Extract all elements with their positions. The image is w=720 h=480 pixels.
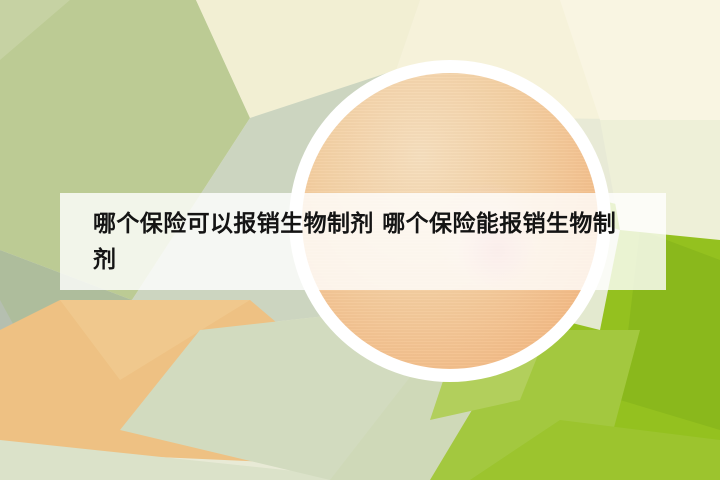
caption-title: 哪个保险可以报销生物制剂 哪个保险能报销生物制剂 (60, 206, 666, 278)
poster-canvas: 哪个保险可以报销生物制剂 哪个保险能报销生物制剂 (0, 0, 720, 480)
caption-band: 哪个保险可以报销生物制剂 哪个保险能报销生物制剂 (60, 193, 666, 290)
